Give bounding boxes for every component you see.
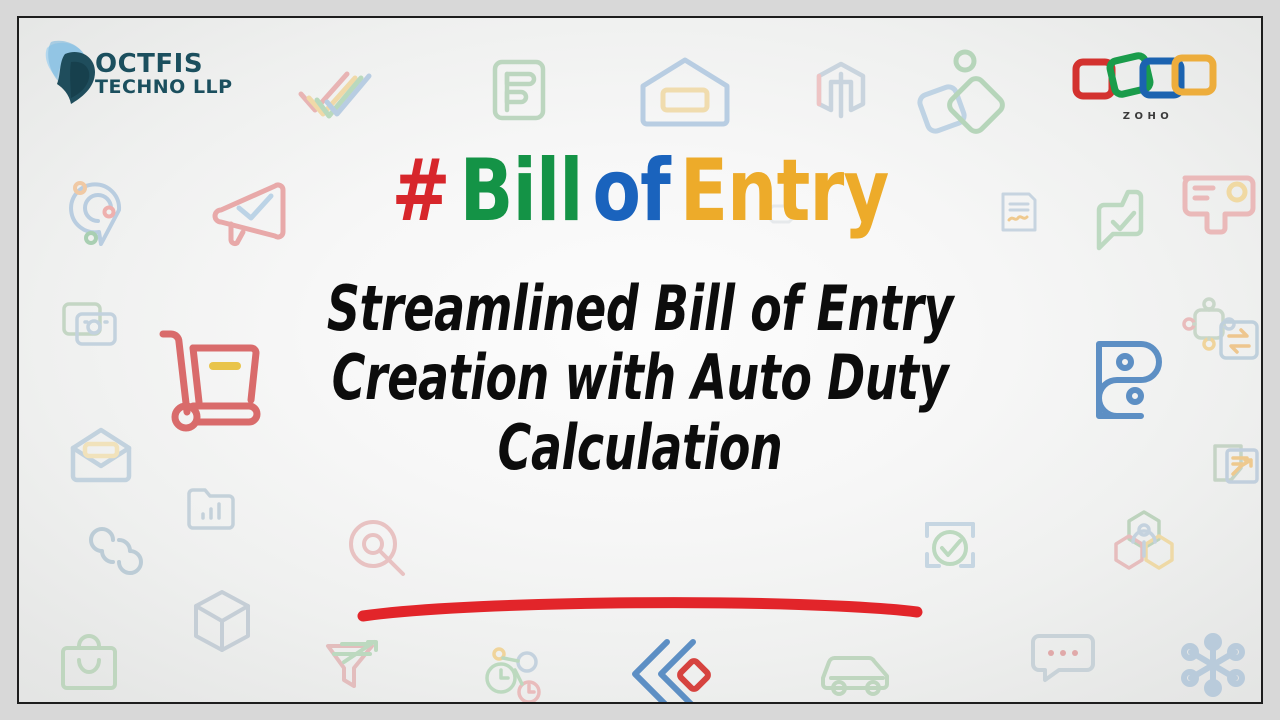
slide-root: OCTFIS TECHNO LLP ZOHO #BillofEntry Stre… <box>0 0 1280 720</box>
brand-name: OCTFIS <box>95 51 233 77</box>
zoho-squares-icon <box>1071 91 1221 108</box>
title-part-bill: Bill <box>460 148 583 234</box>
partner-logo: ZOHO <box>1071 48 1221 122</box>
title-part-of: of <box>592 148 669 234</box>
page-title: #BillofEntry <box>391 148 888 234</box>
brand-subtitle: TECHNO LLP <box>95 78 233 97</box>
title-part-hash: # <box>391 148 449 234</box>
brand-wordmark: OCTFIS TECHNO LLP <box>95 51 233 97</box>
red-curved-underline <box>355 596 925 627</box>
slide-frame: OCTFIS TECHNO LLP ZOHO #BillofEntry Stre… <box>17 16 1263 704</box>
brand-logo: OCTFIS TECHNO LLP <box>41 34 233 113</box>
title-part-entry: Entry <box>680 148 889 234</box>
bird-feather-icon <box>41 34 103 113</box>
subtitle: Streamlined Bill of Entry Creation with … <box>307 274 973 482</box>
partner-name: ZOHO <box>1071 111 1221 122</box>
